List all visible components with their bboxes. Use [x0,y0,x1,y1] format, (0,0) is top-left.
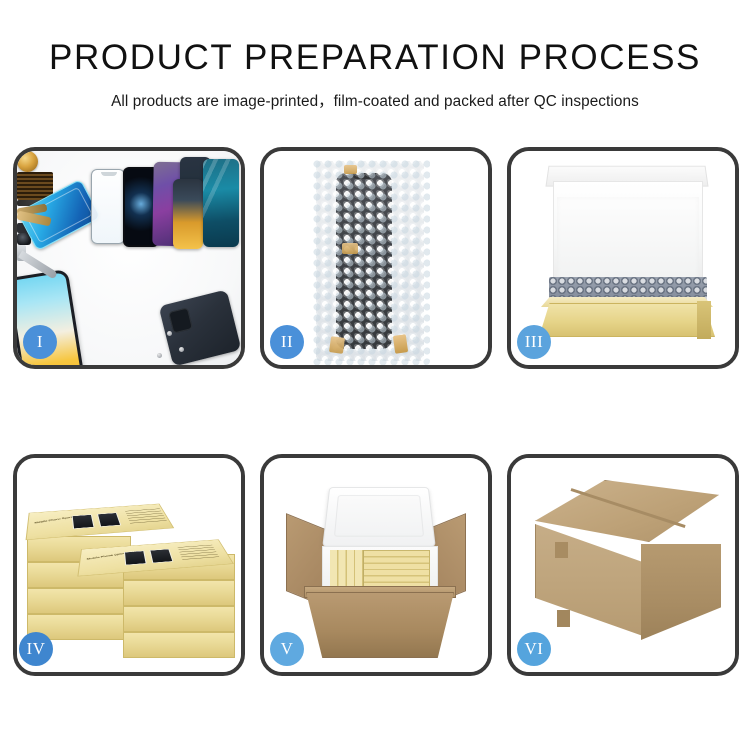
tape-icon [393,334,408,354]
orange-phone-icon [173,179,203,249]
printed-box-lid: Mobile Phone Spare Parts [26,504,175,541]
carton-top-face [535,480,719,542]
step-badge-3: III [517,325,551,359]
header: PRODUCT PREPARATION PROCESS All products… [0,0,750,111]
step-panel-2: II [260,147,492,369]
box-artwork-thumb [72,514,95,529]
step-badge-6: VI [517,632,551,666]
box-stack: Mobile Phone Spare Parts Mobile Phone Sp… [23,474,241,672]
carton-front-face [535,524,643,636]
box-artwork-thumb [124,551,147,566]
tape-icon [344,165,357,174]
tape-icon [329,336,345,354]
carton-body [306,592,454,658]
kraft-box-side [697,301,711,339]
stacked-box [123,580,235,606]
step-panel-3: III [507,147,739,369]
step-badge-2: II [270,325,304,359]
foam-box-lid-icon [322,487,435,547]
screw-icon [167,331,172,336]
product-preparation-infographic: PRODUCT PREPARATION PROCESS All products… [0,0,750,750]
stacked-box [123,606,235,632]
kraft-box-front [539,303,715,337]
step-badge-1: I [23,325,57,359]
striped-phone-icon [203,159,239,247]
box-artwork-thumb [97,513,121,527]
screw-icon [179,347,184,352]
phone-back-housing-icon [159,289,241,365]
process-steps-grid: I II [13,147,739,676]
carton-tape-icon [555,542,568,558]
box-spec-lines [125,508,168,525]
screw-icon [157,353,162,358]
tape-icon [342,243,358,254]
tempered-glass-icon [91,169,125,244]
page-title: PRODUCT PREPARATION PROCESS [0,38,750,78]
step-panel-5: V [260,454,492,676]
carton-tape-icon [557,610,570,627]
step-badge-5: V [270,632,304,666]
step-panel-1: I [13,147,245,369]
step-panel-6: VI [507,454,739,676]
page-subtitle: All products are image-printed，film-coat… [0,89,750,111]
carton-side-face [641,544,721,640]
stacked-box [27,588,131,614]
box-artwork-thumb [149,549,173,563]
stacked-box [123,632,235,658]
copper-coil-icon [17,151,38,172]
step-panel-4: Mobile Phone Spare Parts Mobile Phone Sp… [13,454,245,676]
bubble-wrap-texture [310,157,430,365]
foam-sheet-icon [557,197,699,283]
box-spec-lines [178,545,221,562]
step-badge-4: IV [19,632,53,666]
